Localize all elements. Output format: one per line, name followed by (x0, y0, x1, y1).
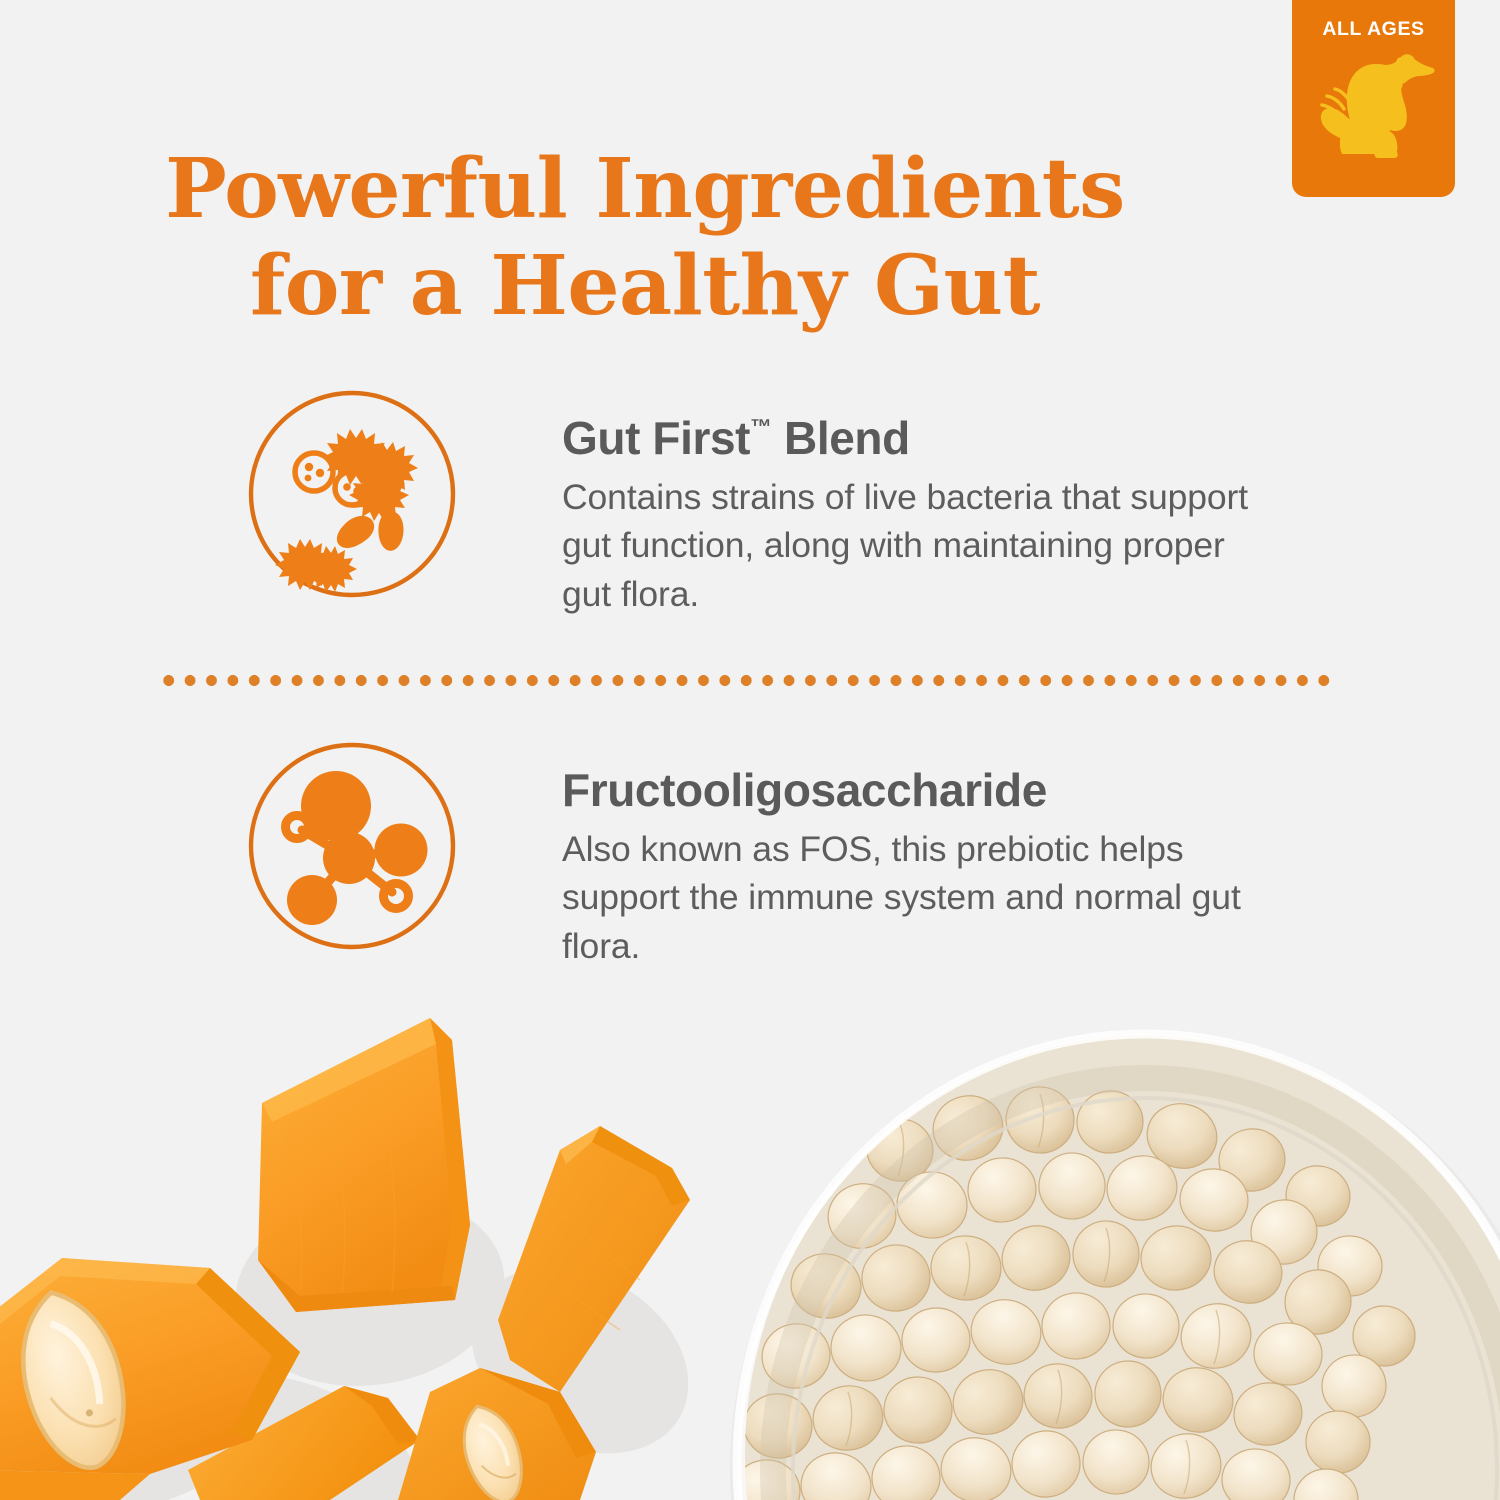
feature-row-fructooligosaccharide: Fructooligosaccharide Also known as FOS,… (246, 740, 1262, 970)
ingredient-photography (0, 1000, 1500, 1500)
infographic-page: ALL AGES (0, 0, 1500, 1500)
molecule-icon (246, 740, 458, 952)
feature-text-block: Fructooligosaccharide Also known as FOS,… (562, 740, 1262, 970)
dotted-divider (158, 675, 1336, 686)
feature-icon-wrapper (246, 740, 458, 952)
trademark-symbol: ™ (750, 414, 772, 439)
feature-title: Fructooligosaccharide (562, 766, 1262, 816)
all-ages-badge: ALL AGES (1292, 0, 1455, 197)
feature-text-block: Gut First™ Blend Contains strains of liv… (562, 388, 1262, 618)
page-title-line1: Powerful Ingredients (165, 141, 1125, 237)
page-title-line2: for a Healthy Gut (0, 238, 1290, 335)
ingredient-photo-band (0, 1000, 1500, 1500)
page-title: Powerful Ingredients for a Healthy Gut (0, 141, 1290, 335)
feature-title-rest: Blend (772, 412, 910, 464)
feature-title-main: Fructooligosaccharide (562, 764, 1047, 816)
feature-description: Contains strains of live bacteria that s… (562, 473, 1262, 618)
sitting-dog-icon (1312, 46, 1436, 168)
feature-title: Gut First™ Blend (562, 414, 1262, 464)
all-ages-badge-label: ALL AGES (1322, 20, 1424, 40)
feature-icon-wrapper (246, 388, 458, 600)
feature-title-main: Gut First (562, 412, 750, 464)
feature-row-gut-first-blend: Gut First™ Blend Contains strains of liv… (246, 388, 1262, 618)
feature-description: Also known as FOS, this prebiotic helps … (562, 825, 1262, 970)
bacteria-petri-dish-icon (246, 388, 458, 600)
